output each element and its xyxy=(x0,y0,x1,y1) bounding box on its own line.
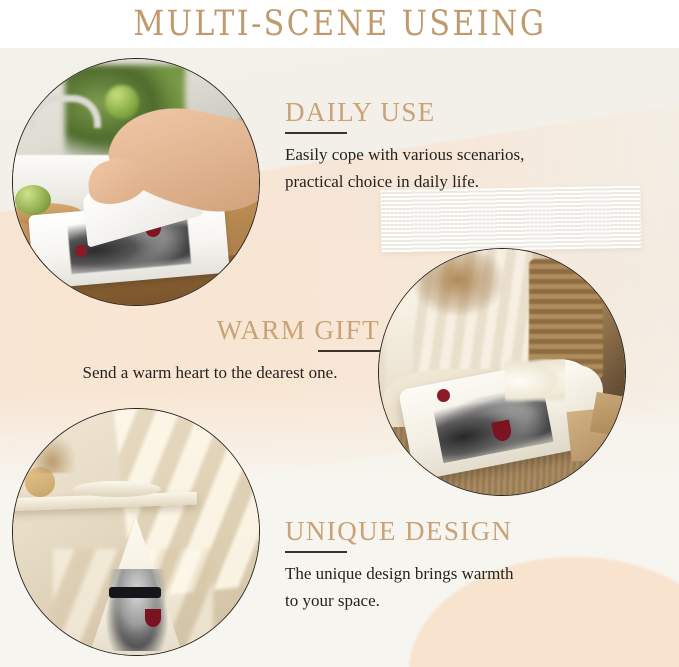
section-body-unique-design: The unique design brings warmth to your … xyxy=(285,560,514,615)
photo3-dried-stems xyxy=(29,435,75,473)
section-body-daily-use: Easily cope with various scenarios, prac… xyxy=(285,141,524,196)
section-warm-gift: WARM GIFT Send a warm heart to the deare… xyxy=(40,316,380,386)
photo1-faucet xyxy=(29,95,101,128)
heading-rule-unique-design xyxy=(285,551,347,553)
photo2-dried-flowers xyxy=(413,248,503,315)
section-daily-use: DAILY USE Easily cope with various scena… xyxy=(285,98,524,196)
photo2-gift-box-secondary xyxy=(590,392,626,438)
photo-unique-design xyxy=(12,408,260,656)
photo1-cabbage xyxy=(15,185,51,215)
photo3-stacked-plates xyxy=(73,481,161,497)
photo-warm-gift xyxy=(378,248,626,496)
photo3-wine-glass xyxy=(145,609,161,627)
photo2-rose xyxy=(437,389,450,402)
section-body-warm-gift: Send a warm heart to the dearest one. xyxy=(40,359,380,387)
section-heading-daily-use: DAILY USE xyxy=(285,98,524,126)
photo1-green-fruit xyxy=(105,85,139,119)
page-title: MULTI-SCENE USEING xyxy=(133,4,546,44)
multi-scene-infographic: MULTI-SCENE USEING xyxy=(0,0,679,667)
header-bar: MULTI-SCENE USEING xyxy=(0,0,679,48)
section-heading-unique-design: UNIQUE DESIGN xyxy=(285,517,514,545)
heading-rule-daily-use xyxy=(285,132,347,134)
photo3-sunglasses xyxy=(109,587,161,598)
photo1-rose xyxy=(75,245,87,257)
section-heading-warm-gift: WARM GIFT xyxy=(40,316,380,344)
section-unique-design: UNIQUE DESIGN The unique design brings w… xyxy=(285,517,514,615)
photo-daily-use xyxy=(12,58,260,306)
heading-rule-warm-gift xyxy=(318,350,380,352)
photo2-ribbon-bow xyxy=(505,359,565,403)
